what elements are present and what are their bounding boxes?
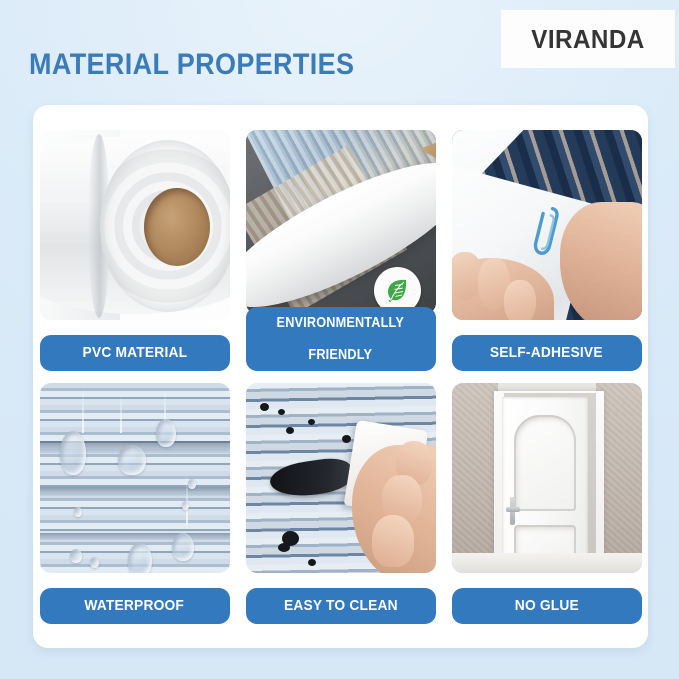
infographic-page: VIRANDA MATERIAL PROPERTIES PVC MATERIAL	[0, 0, 679, 679]
easy-to-clean-image	[246, 383, 436, 573]
feature-card: PVC MATERIAL	[33, 105, 648, 648]
feature-label-text: WATERPROOF	[85, 598, 185, 614]
page-title: MATERIAL PROPERTIES	[29, 48, 354, 82]
feature-label-text: PVC MATERIAL	[82, 345, 187, 361]
feature-grid: PVC MATERIAL	[33, 105, 648, 648]
feature-label-pvc-material: PVC MATERIAL	[40, 335, 230, 371]
feature-label-text: NO GLUE	[514, 598, 578, 614]
feature-tile-waterproof[interactable]: WATERPROOF	[40, 383, 230, 624]
feature-label-self-adhesive: SELF-ADHESIVE	[452, 335, 642, 371]
feature-label-text: ENVIRONMENTALLY FRIENDLY	[271, 315, 409, 363]
green-leaf-icon	[382, 275, 412, 305]
feature-tile-pvc-material[interactable]: PVC MATERIAL	[40, 130, 230, 371]
feature-tile-no-glue[interactable]: NO GLUE	[452, 383, 642, 624]
waterproof-image	[40, 383, 230, 573]
eco-wallpaper-image	[246, 130, 436, 314]
feature-label-text: SELF-ADHESIVE	[490, 345, 603, 361]
feature-label-easy-to-clean: EASY TO CLEAN	[246, 588, 436, 624]
feature-label-waterproof: WATERPROOF	[40, 588, 230, 624]
feature-tile-easy-to-clean[interactable]: EASY TO CLEAN	[246, 383, 436, 624]
no-glue-door-image	[452, 383, 642, 573]
feature-tile-self-adhesive[interactable]: SELF-ADHESIVE	[452, 130, 642, 371]
feature-label-no-glue: NO GLUE	[452, 588, 642, 624]
feature-tile-environmentally-friendly[interactable]: ENVIRONMENTALLY FRIENDLY	[246, 130, 436, 371]
feature-label-text: EASY TO CLEAN	[284, 598, 398, 614]
feature-label-environmentally-friendly: ENVIRONMENTALLY FRIENDLY	[246, 307, 436, 371]
brand-name: VIRANDA	[531, 24, 644, 55]
self-adhesive-image	[452, 130, 642, 320]
pvc-roll-image	[40, 130, 230, 320]
brand-logo: VIRANDA	[501, 10, 675, 68]
